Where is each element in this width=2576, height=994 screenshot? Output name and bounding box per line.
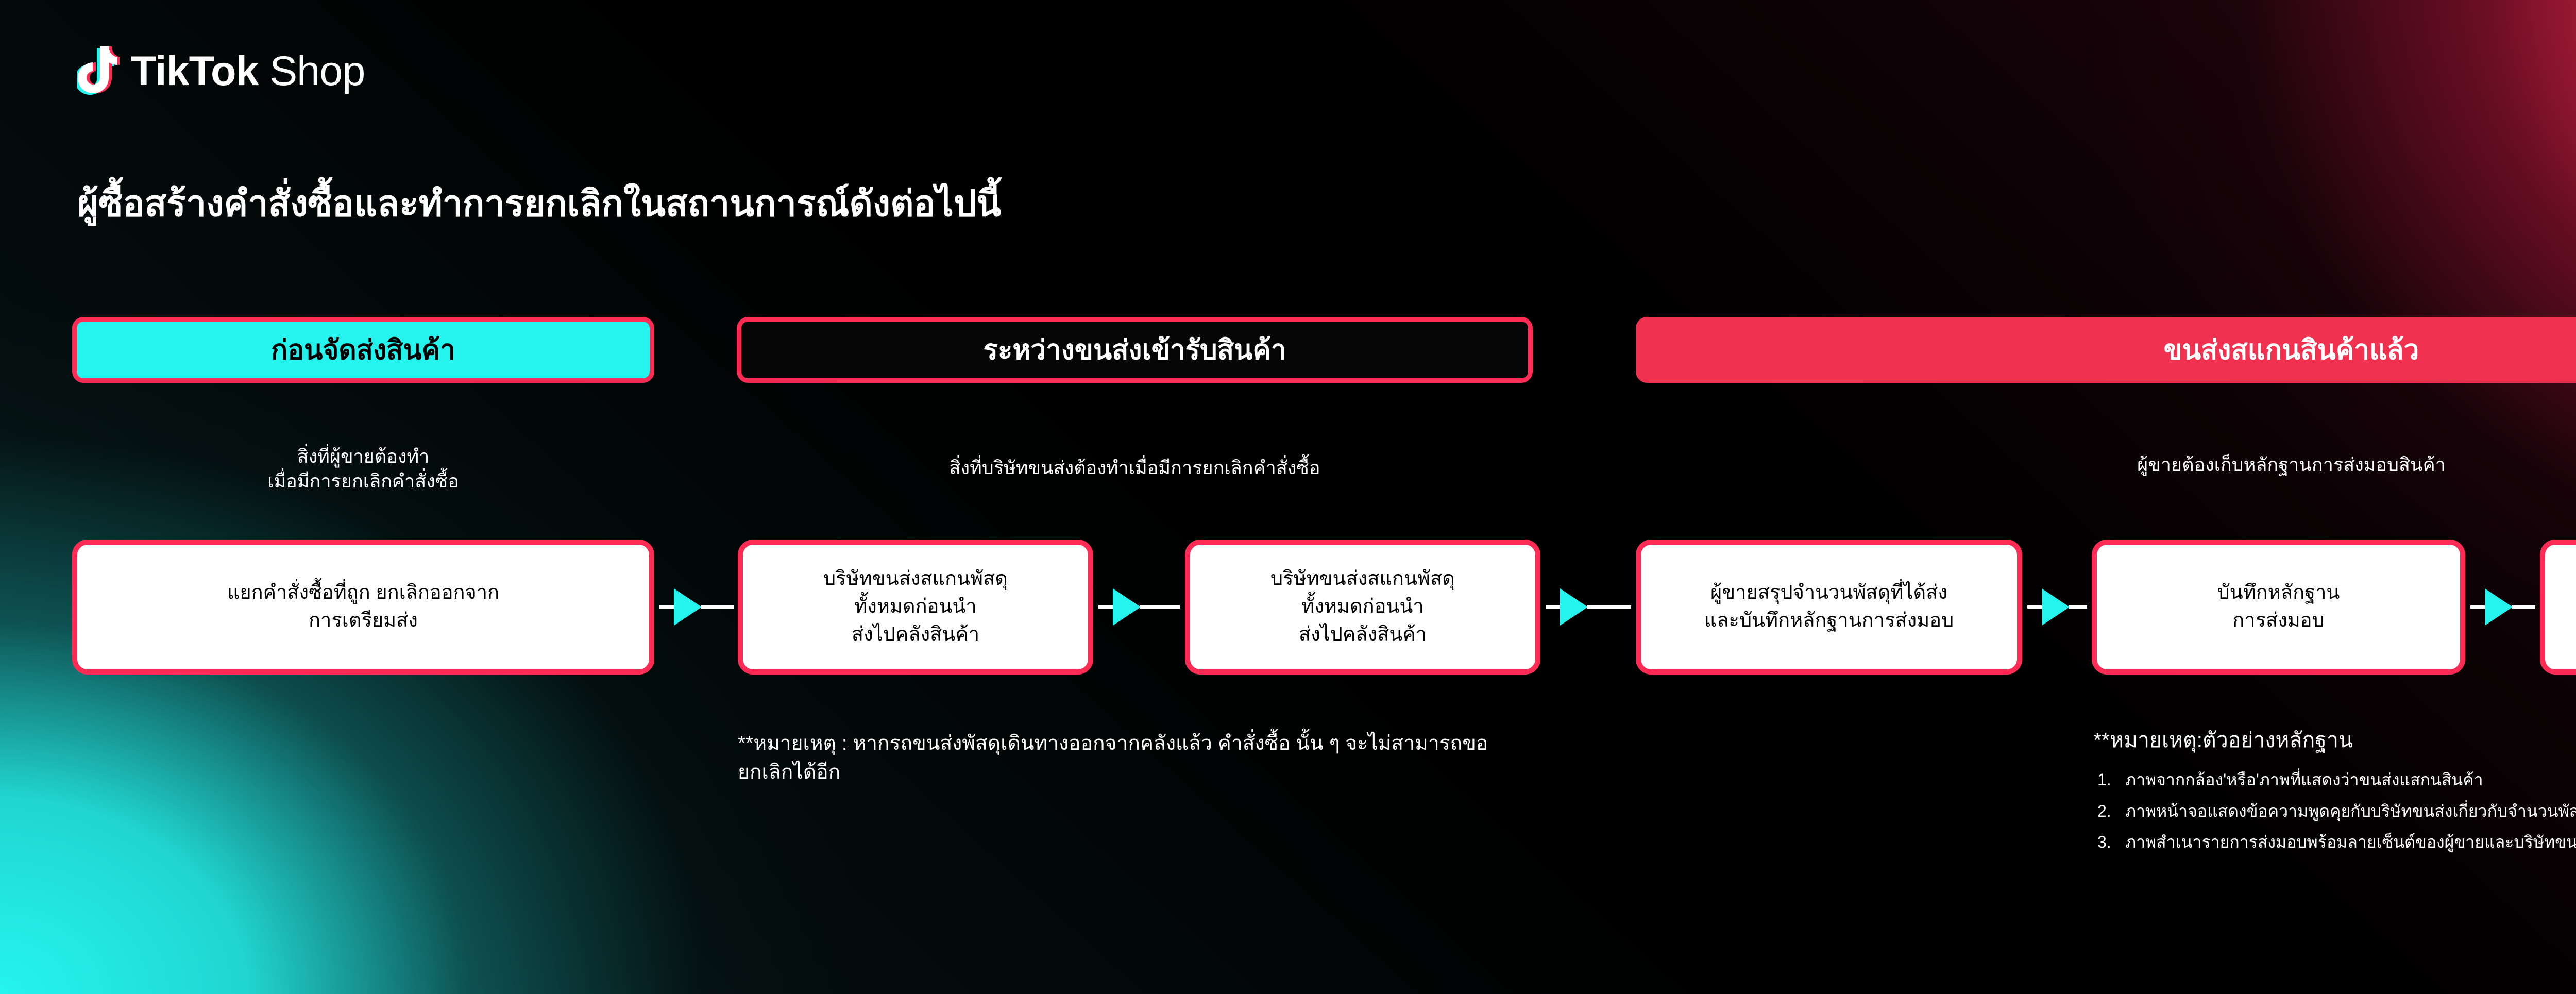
step-box-3-line-1: บริษัทขนส่งสแกนพัสดุ [1270,565,1455,593]
step-box-2-line-2: ทั้งหมดก่อนนำ [823,593,1008,621]
flow-arrow-4 [2027,598,2087,616]
step-box-1: แยกคำสั่งซื้อที่ถูก ยกเลิกออกจาก การเตรี… [72,540,654,675]
arrow-line [701,605,734,609]
step-box-2-line-1: บริษัทขนส่งสแกนพัสดุ [823,565,1008,593]
step-box-2: บริษัทขนส่งสแกนพัสดุ ทั้งหมดก่อนนำ ส่งไป… [738,540,1093,675]
page-title: ผู้ซื้อสร้างคำสั่งซื้อและทำการยกเลิกในสถ… [77,183,1001,225]
flow-arrow-5 [2470,598,2535,616]
arrow-line [2027,605,2043,609]
arrow-line [1140,605,1180,609]
step-box-3-line-2: ทั้งหมดก่อนนำ [1270,593,1455,621]
caption-phase-2: สิ่งที่บริษัทขนส่งต้องทำเมื่อมีการยกเลิก… [737,456,1533,480]
flow-arrow-2 [1098,598,1180,616]
arrow-line [2470,605,2486,609]
note-left-line-1: **หมายเหตุ : หากรถขนส่งพัสดุเดินทางออกจา… [738,732,1291,754]
step-box-6: บันทึกหลักฐาน การส่งมอบในกรณีที่มีปัญหา [2540,540,2576,675]
step-box-2-text: บริษัทขนส่งสแกนพัสดุ ทั้งหมดก่อนนำ ส่งไป… [823,565,1008,649]
step-box-5: บันทึกหลักฐาน การส่งมอบ [2092,540,2465,675]
step-box-1-text: แยกคำสั่งซื้อที่ถูก ยกเลิกออกจาก การเตรี… [227,579,499,635]
logo-tiktok: TikTok [131,48,259,94]
step-box-3-text: บริษัทขนส่งสแกนพัสดุ ทั้งหมดก่อนนำ ส่งไป… [1270,565,1455,649]
infographic-page: TikTok Shop ผู้ซื้อสร้างคำสั่งซื้อและทำก… [0,0,2576,994]
arrow-line [2512,605,2535,609]
step-box-4-text: ผู้ขายสรุปจำนวนพัสดุที่ได้ส่ง และบันทึกห… [1704,579,1954,635]
step-box-5-line-2: การส่งมอบ [2217,607,2340,635]
phase-pill-before-shipping: ก่อนจัดส่งสินค้า [72,317,654,383]
step-box-1-line-2: การเตรียมส่ง [227,607,499,635]
tiktok-shop-logo: TikTok Shop [77,46,365,96]
caption-phase-1-line-1: สิ่งที่ผู้ขายต้องทำ [72,444,654,469]
arrow-triangle-icon [2042,588,2070,626]
arrow-line [1098,605,1114,609]
tiktok-music-note-icon [77,46,120,96]
arrow-line [1546,605,1561,609]
caption-phase-1: สิ่งที่ผู้ขายต้องทำ เมื่อมีการยกเลิกคำสั… [72,444,654,494]
step-box-4: ผู้ขายสรุปจำนวนพัสดุที่ได้ส่ง และบันทึกห… [1636,540,2022,675]
note-left: **หมายเหตุ : หากรถขนส่งพัสดุเดินทางออกจา… [738,729,1541,787]
logo-shop: Shop [259,48,365,94]
note-right-heading: **หมายเหตุ:ตัวอย่างหลักฐาน [2093,727,2576,754]
step-box-4-line-2: และบันทึกหลักฐานการส่งมอบ [1704,607,1954,635]
step-box-3: บริษัทขนส่งสแกนพัสดุ ทั้งหมดก่อนนำ ส่งไป… [1185,540,1540,675]
step-box-5-line-1: บันทึกหลักฐาน [2217,579,2340,607]
logo-wordmark: TikTok Shop [131,50,365,92]
phase-pill-after-scan: ขนส่งสแกนสินค้าแล้ว [1636,317,2576,383]
arrow-line [1587,605,1631,609]
arrow-triangle-icon [674,588,702,626]
caption-phase-3: ผู้ขายต้องเก็บหลักฐานการส่งมอบสินค้า [1636,452,2576,477]
flow-arrow-1 [659,598,734,616]
step-box-1-line-1: แยกคำสั่งซื้อที่ถูก ยกเลิกออกจาก [227,579,499,607]
step-box-5-text: บันทึกหลักฐาน การส่งมอบ [2217,579,2340,635]
step-box-3-line-3: ส่งไปคลังสินค้า [1270,621,1455,649]
arrow-triangle-icon [2485,588,2513,626]
list-item: ภาพสำเนารายการส่งมอบพร้อมลายเซ็นต์ของผู้… [2093,831,2576,853]
step-box-4-line-1: ผู้ขายสรุปจำนวนพัสดุที่ได้ส่ง [1704,579,1954,607]
evidence-list: ภาพจากกล้อง'หรือ'ภาพที่แสดงว่าขนส่งแสกนส… [2093,769,2576,863]
list-item: ภาพจากกล้อง'หรือ'ภาพที่แสดงว่าขนส่งแสกนส… [2093,769,2576,791]
step-box-2-line-3: ส่งไปคลังสินค้า [823,621,1008,649]
phase-pill-during-pickup: ระหว่างขนส่งเข้ารับสินค้า [737,317,1533,383]
arrow-line [659,605,675,609]
list-item: ภาพหน้าจอแสดงข้อความพูดคุยกับบริษัทขนส่ง… [2093,800,2576,822]
arrow-line [2069,605,2087,609]
arrow-triangle-icon [1560,588,1588,626]
arrow-triangle-icon [1113,588,1141,626]
flow-arrow-3 [1546,598,1631,616]
caption-phase-1-line-2: เมื่อมีการยกเลิกคำสั่งซื้อ [72,469,654,494]
